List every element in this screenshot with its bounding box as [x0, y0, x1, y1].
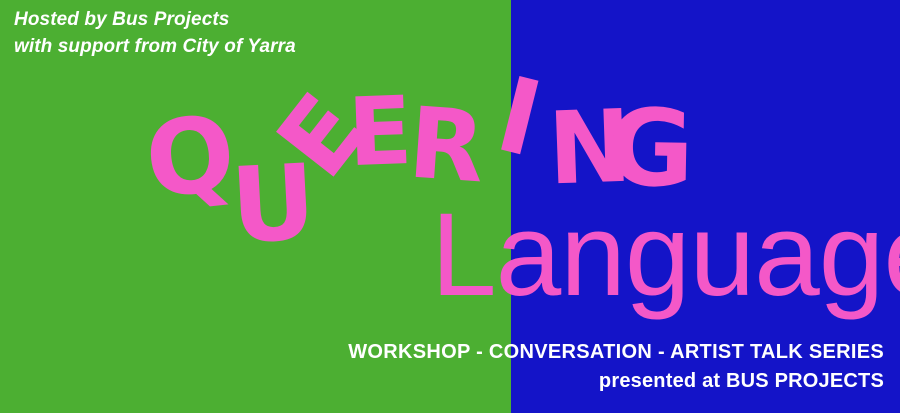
series-line-2: presented at BUS PROJECTS — [348, 367, 884, 395]
credits-line-2: with support from City of Yarra — [14, 34, 296, 61]
series-block: WORKSHOP - CONVERSATION - ARTIST TALK SE… — [348, 338, 884, 395]
credits-block: Hosted by Bus Projects with support from… — [14, 7, 296, 61]
series-line-1: WORKSHOP - CONVERSATION - ARTIST TALK SE… — [348, 338, 884, 366]
credits-line-1: Hosted by Bus Projects — [14, 7, 296, 34]
language-wordmark: Language — [431, 196, 900, 314]
poster-canvas: Hosted by Bus Projects with support from… — [0, 0, 900, 413]
